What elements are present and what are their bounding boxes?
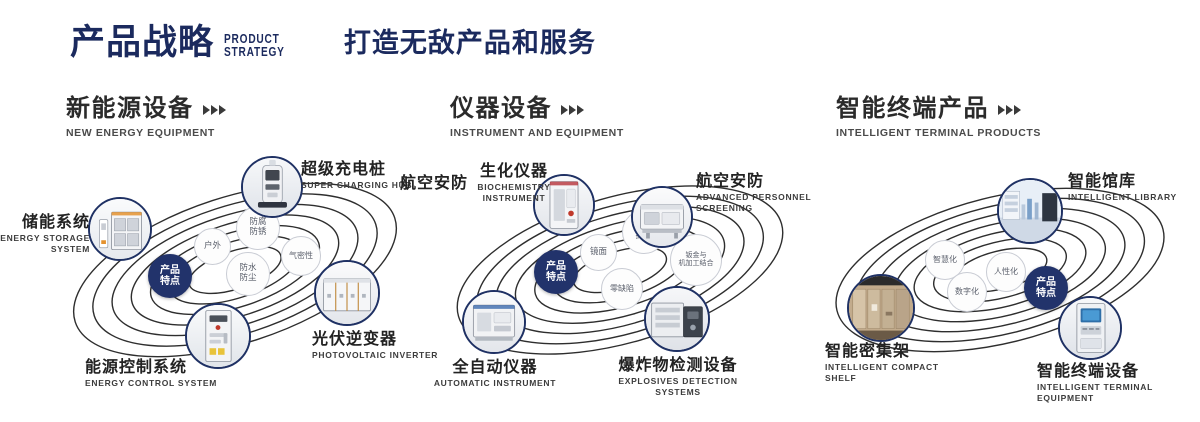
product-feature-line1: 产品	[546, 261, 566, 272]
compact-shelf-icon	[849, 276, 913, 340]
label-automatic-instrument: 全自动仪器 AUTOMATIC INSTRUMENT	[428, 358, 562, 389]
node-energy-storage-system[interactable]	[88, 197, 152, 261]
keyword-text: 人性化	[994, 268, 1018, 277]
label-cn: 航空安防	[400, 174, 490, 192]
label-cn: 智能终端设备	[1037, 362, 1200, 380]
label-cn: 能源控制系统	[85, 358, 245, 376]
keyword-text: 镜面	[590, 248, 607, 258]
chevron-right-icon	[998, 105, 1021, 115]
section-header-intelligent-terminal: 智能终端产品 INTELLIGENT TERMINAL PRODUCTS	[836, 95, 1041, 139]
label-en: INTELLIGENT COMPACT SHELF	[825, 362, 965, 383]
section-title-cn: 新能源设备	[66, 95, 194, 121]
keyword-text: 气密性	[289, 252, 313, 261]
label-en: AUTOMATIC INSTRUMENT	[428, 378, 562, 389]
screening-machine-icon	[633, 188, 691, 246]
node-automatic-instrument[interactable]	[462, 290, 526, 354]
keyword-bubble: 镜面	[580, 234, 617, 271]
product-strategy-infographic: 产品战略 PRODUCT STRATEGY 打造无敌产品和服务 新能源设备 NE…	[0, 0, 1200, 422]
keyword-bubble: 气密性	[281, 236, 321, 276]
label-cn: 智能密集架	[825, 342, 965, 360]
keyword-text: 数字化	[955, 288, 979, 297]
keyword-text: 零缺陷	[610, 285, 634, 294]
node-super-charging-hub[interactable]	[241, 156, 303, 218]
keyword-bubble: 数字化	[947, 272, 987, 312]
node-intelligent-library[interactable]	[997, 178, 1063, 244]
product-feature-line2: 特点	[546, 272, 566, 283]
product-feature-line1: 产品	[160, 265, 180, 276]
node-intelligent-compact-shelf[interactable]	[847, 274, 915, 342]
label-cn: 航空安防	[696, 172, 816, 190]
chevron-right-icon	[561, 105, 584, 115]
label-cn: 全自动仪器	[428, 358, 562, 376]
label-en: ENERGY STORAGE SYSTEM	[0, 233, 90, 254]
terminal-kiosk-icon	[1060, 298, 1120, 358]
keyword-text: 智慧化	[933, 256, 957, 265]
smart-library-icon	[999, 180, 1061, 242]
label-en: ENERGY CONTROL SYSTEM	[85, 378, 245, 389]
label-intelligent-terminal-equipment: 智能终端设备 INTELLIGENT TERMINAL EQUIPMENT	[1037, 362, 1200, 404]
page-title-cn: 产品战略	[70, 26, 214, 61]
page-title-en: PRODUCT STRATEGY	[224, 32, 285, 58]
node-explosives-detection-systems[interactable]	[644, 286, 710, 352]
section-title-en: NEW ENERGY EQUIPMENT	[66, 127, 226, 139]
chevron-right-icon	[203, 105, 226, 115]
cluster-new-energy: 产品 特点 户外 防腐 防锈 防水 防尘 气密性	[30, 150, 430, 390]
label-energy-control-system: 能源控制系统 ENERGY CONTROL SYSTEM	[85, 358, 245, 389]
label-en: ADVANCED PERSONNEL SCREENING	[696, 192, 816, 212]
label-energy-storage-system: 储能系统 ENERGY STORAGE SYSTEM	[0, 213, 90, 255]
product-feature-line2: 特点	[160, 276, 180, 287]
keyword-text: 户外	[204, 242, 221, 252]
product-feature-bubble: 产品 特点	[534, 250, 578, 294]
page-subtitle: 打造无敌产品和服务	[344, 30, 596, 57]
section-header-new-energy: 新能源设备 NEW ENERGY EQUIPMENT	[66, 95, 226, 139]
cluster-intelligent-terminal: 产品 特点 智慧化 数字化 人性化	[805, 150, 1200, 390]
product-feature-bubble: 产品 特点	[148, 254, 192, 298]
label-advanced-personnel-screening: 航空安防 ADVANCED PERSONNEL SCREENING	[696, 172, 816, 213]
label-en: EXPLOSIVES DETECTION SYSTEMS	[612, 376, 744, 397]
keyword-text: 防锈	[249, 228, 266, 238]
keyword-bubble: 防水 防尘	[226, 252, 270, 296]
label-aviation-security-left: 航空安防	[400, 174, 490, 192]
node-photovoltaic-inverter[interactable]	[314, 260, 380, 326]
label-explosives-detection-systems: 爆炸物检测设备 EXPLOSIVES DETECTION SYSTEMS	[612, 356, 744, 398]
keyword-bubble: 户外	[194, 228, 231, 265]
section-title-cn: 仪器设备	[450, 95, 552, 121]
label-intelligent-compact-shelf: 智能密集架 INTELLIGENT COMPACT SHELF	[825, 342, 965, 384]
product-feature-line2: 特点	[1036, 288, 1056, 299]
keyword-bubble: 人性化	[986, 252, 1026, 292]
page-title: 产品战略 PRODUCT STRATEGY 打造无敌产品和服务	[70, 26, 596, 61]
label-cn: 储能系统	[0, 213, 90, 231]
charging-pile-icon	[243, 158, 301, 216]
section-title-en: INSTRUMENT AND EQUIPMENT	[450, 127, 624, 139]
explosives-detector-icon	[646, 288, 708, 350]
section-header-instrument: 仪器设备 INSTRUMENT AND EQUIPMENT	[450, 95, 624, 139]
label-intelligent-library: 智能馆库 INTELLIGENT LIBRARY	[1068, 172, 1196, 203]
page-title-en-line2: STRATEGY	[224, 45, 285, 58]
section-title-en: INTELLIGENT TERMINAL PRODUCTS	[836, 127, 1041, 139]
energy-storage-cabinet-icon	[90, 199, 150, 259]
product-feature-line1: 产品	[1036, 277, 1056, 288]
node-advanced-personnel-screening[interactable]	[631, 186, 693, 248]
keyword-text: 机加工结合	[679, 260, 714, 268]
pv-inverter-icon	[316, 262, 378, 324]
label-en: INTELLIGENT LIBRARY	[1068, 192, 1196, 203]
label-cn: 智能馆库	[1068, 172, 1196, 190]
automatic-instrument-icon	[464, 292, 524, 352]
node-intelligent-terminal-equipment[interactable]	[1058, 296, 1122, 360]
label-en: INTELLIGENT TERMINAL EQUIPMENT	[1037, 382, 1200, 403]
label-cn: 爆炸物检测设备	[612, 356, 744, 374]
keyword-text: 防尘	[239, 274, 256, 284]
cluster-instrument: 产品 特点 镜面 电解 抛光 钣金与 机加工结合 零缺陷	[420, 150, 820, 390]
keyword-bubble: 零缺陷	[601, 268, 643, 310]
section-title-cn: 智能终端产品	[836, 95, 989, 121]
